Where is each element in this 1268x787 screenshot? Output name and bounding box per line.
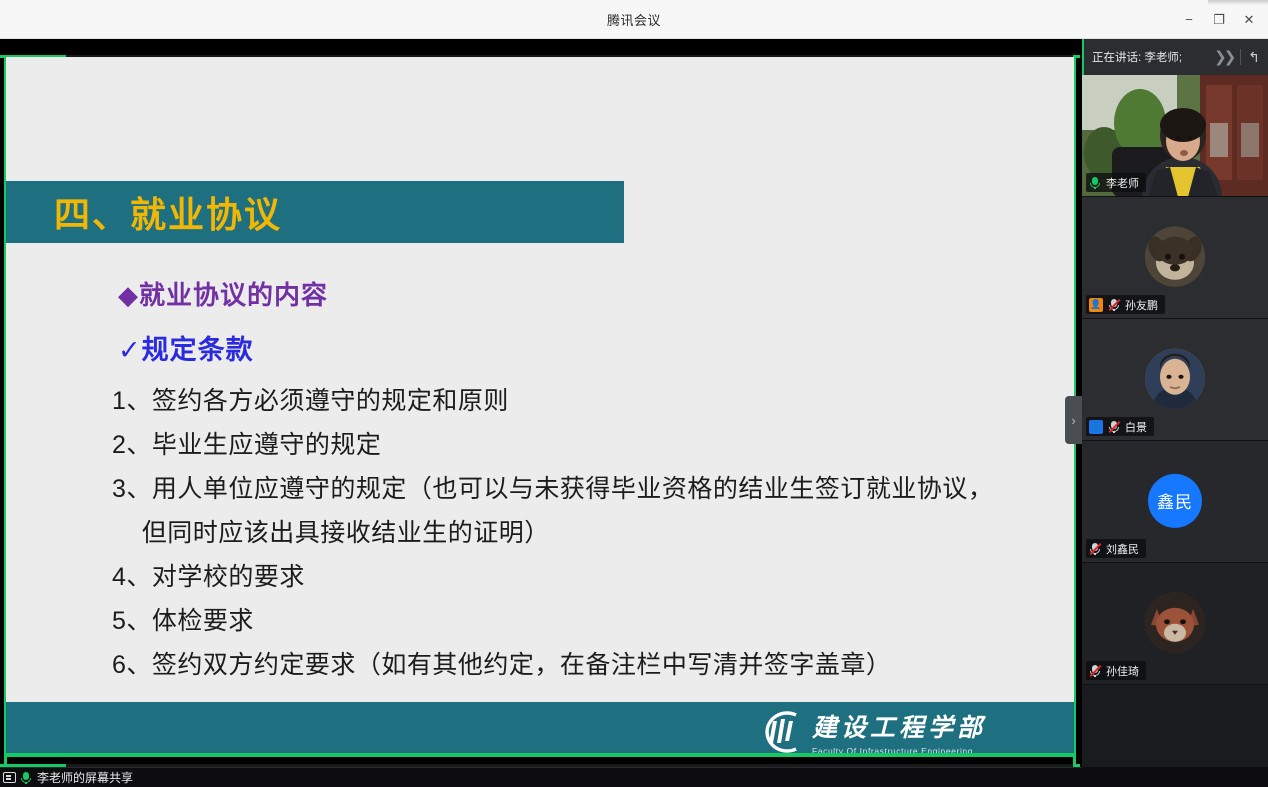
window-title: 腾讯会议 <box>0 10 1268 29</box>
return-arrow-icon[interactable]: ↰ <box>1248 49 1260 66</box>
window-controls: − ❐ ✕ <box>1174 0 1264 39</box>
list-item: 5、体检要求 <box>112 599 1074 643</box>
shared-screen-area: 四、就业协议 ◆就业协议的内容 ✓规定条款 1、签约各方必须遵守的规定和原则 2… <box>0 39 1080 767</box>
slide-footer-accent <box>6 753 1074 757</box>
participant-tile[interactable]: 孙佳琦 <box>1082 563 1268 685</box>
collapse-panel-button[interactable]: › <box>1065 396 1082 444</box>
participant-name: 白景 <box>1125 419 1147 435</box>
microphone-muted-icon <box>1108 420 1120 434</box>
avatar <box>1145 348 1205 408</box>
avatar-svg <box>1145 348 1205 408</box>
close-button[interactable]: ✕ <box>1234 6 1264 34</box>
list-item: 6、签约双方约定要求（如有其他约定，在备注栏中写清并签字盖章） <box>112 643 1074 687</box>
participant-namebar: 👤 孙友鹏 <box>1086 295 1165 314</box>
screen-share-icon <box>3 772 16 783</box>
slide-subheading-2: ✓规定条款 <box>118 328 1074 367</box>
avatar-badge-icon: 👤 <box>1089 420 1103 434</box>
participant-namebar: 李老师 <box>1086 173 1146 192</box>
rail-footer <box>1082 767 1268 787</box>
double-chevron-icon[interactable]: ❯❯ <box>1214 48 1233 66</box>
screen-share-statusbar: 李老师的屏幕共享 <box>0 767 1082 787</box>
microphone-icon <box>20 771 32 785</box>
screen-share-status-text: 李老师的屏幕共享 <box>37 769 133 786</box>
active-speaker-bar: 正在讲话: 李老师; ❯❯ ↰ <box>1082 39 1268 75</box>
rail-controls: ❯❯ ↰ <box>1214 48 1260 66</box>
avatar <box>1145 226 1205 286</box>
window-titlebar: 腾讯会议 − ❐ ✕ <box>0 0 1268 39</box>
participant-namebar: 👤 白景 <box>1086 417 1154 436</box>
chevron-right-icon: › <box>1071 413 1075 428</box>
list-item: 4、对学校的要求 <box>112 555 1074 599</box>
microphone-muted-icon <box>1089 542 1101 556</box>
slide-subheading-1: ◆就业协议的内容 <box>118 275 1074 312</box>
slide-bullet-list: 1、签约各方必须遵守的规定和原则 2、毕业生应遵守的规定 3、用人单位应遵守的规… <box>112 379 1074 757</box>
faculty-name-cn: 建设工程学部 <box>812 708 986 744</box>
microphone-muted-icon <box>1108 298 1120 312</box>
active-speaker-label: 正在讲话: 李老师; <box>1092 49 1214 65</box>
microphone-muted-icon <box>1089 664 1101 678</box>
participant-rail: 正在讲话: 李老师; ❯❯ ↰ <box>1082 39 1268 787</box>
participant-tile[interactable]: 李老师 <box>1082 75 1268 197</box>
microphone-icon <box>1089 176 1101 190</box>
participant-namebar: 刘鑫民 <box>1086 539 1146 558</box>
restore-button[interactable]: ❐ <box>1204 6 1234 34</box>
slide-footer: 建设工程学部 Faculty Of Infrastructure Enginee… <box>6 702 1074 757</box>
faculty-logo: 建设工程学部 Faculty Of Infrastructure Enginee… <box>756 708 986 756</box>
participant-namebar: 孙佳琦 <box>1086 661 1146 680</box>
participant-tile[interactable]: 👤 白景 <box>1082 319 1268 441</box>
slide-body: ◆就业协议的内容 ✓规定条款 1、签约各方必须遵守的规定和原则 2、毕业生应遵守… <box>6 253 1074 757</box>
divider <box>1240 49 1241 65</box>
minimize-button[interactable]: − <box>1174 6 1204 34</box>
list-item: 3、用人单位应遵守的规定（也可以与未获得毕业资格的结业生签订就业协议， 但同时应… <box>112 467 1074 555</box>
avatar-badge-icon: 👤 <box>1089 298 1103 312</box>
list-item: 2、毕业生应遵守的规定 <box>112 423 1074 467</box>
faculty-logo-text: 建设工程学部 Faculty Of Infrastructure Enginee… <box>812 708 986 756</box>
logo-mark-icon <box>756 711 802 753</box>
participant-name: 孙友鹏 <box>1125 297 1158 313</box>
presentation-slide: 四、就业协议 ◆就业协议的内容 ✓规定条款 1、签约各方必须遵守的规定和原则 2… <box>6 57 1074 757</box>
avatar-initials: 鑫民 <box>1148 473 1202 527</box>
logo-svg <box>756 711 802 753</box>
participant-name: 孙佳琦 <box>1106 663 1139 679</box>
participant-name: 李老师 <box>1106 175 1139 191</box>
list-item: 1、签约各方必须遵守的规定和原则 <box>112 379 1074 423</box>
slide-title: 四、就业协议 <box>54 186 282 238</box>
participant-tile[interactable]: 👤 孙友鹏 <box>1082 197 1268 319</box>
participant-tile[interactable]: 鑫民 刘鑫民 <box>1082 441 1268 563</box>
avatar-svg <box>1145 592 1205 652</box>
participant-name: 刘鑫民 <box>1106 541 1139 557</box>
slide-title-banner: 四、就业协议 <box>6 181 624 243</box>
avatar-svg <box>1145 226 1205 286</box>
app-body: 四、就业协议 ◆就业协议的内容 ✓规定条款 1、签约各方必须遵守的规定和原则 2… <box>0 39 1268 787</box>
avatar <box>1145 592 1205 652</box>
